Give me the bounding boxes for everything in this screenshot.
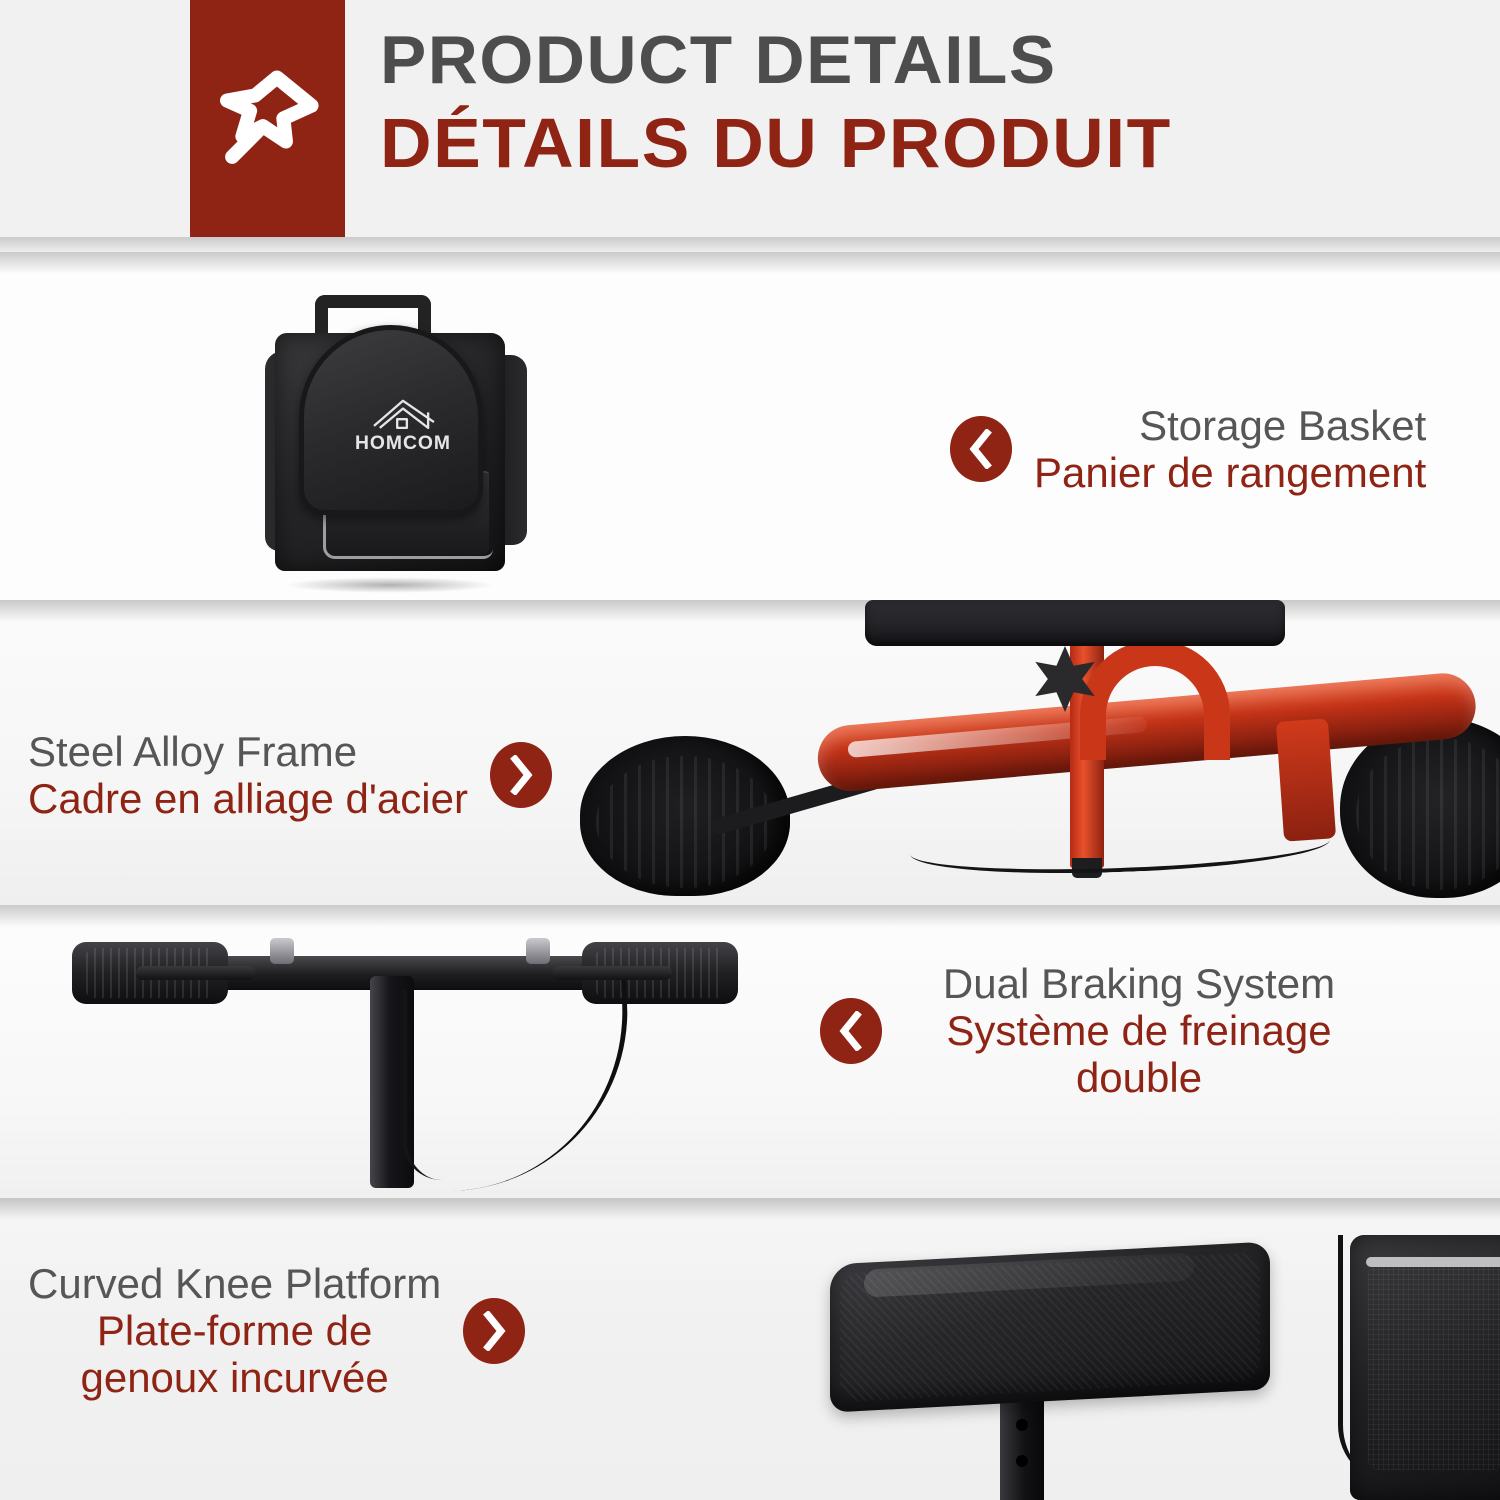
caption-text: Dual Braking System Système de freinage … xyxy=(904,960,1374,1101)
handlebar-brakes-image xyxy=(50,920,750,1198)
caption-text: Steel Alloy Frame Cadre en alliage d'aci… xyxy=(28,728,468,822)
page-title-en: PRODUCT DETAILS xyxy=(380,26,1400,94)
feature-label-en: Steel Alloy Frame xyxy=(28,728,357,775)
caption-text: Storage Basket Panier de rangement xyxy=(1034,402,1426,496)
caption-storage-basket: Storage Basket Panier de rangement xyxy=(950,402,1426,496)
feature-row-steel-alloy-frame: Steel Alloy Frame Cadre en alliage d'aci… xyxy=(0,600,1500,905)
chevron-right-icon[interactable] xyxy=(490,742,552,808)
caption-curved-knee-platform: Curved Knee Platform Plate-forme de geno… xyxy=(28,1260,525,1401)
pushpin-icon xyxy=(204,57,332,185)
knee-pad-edge xyxy=(865,600,1285,646)
curved-knee-platform-image xyxy=(790,1235,1500,1500)
mesh-basket xyxy=(1350,1235,1500,1500)
page-title-fr: DÉTAILS DU PRODUIT xyxy=(380,108,1400,178)
post-hole xyxy=(1016,1419,1028,1431)
feature-label-en: Dual Braking System xyxy=(943,960,1335,1007)
steel-frame-image xyxy=(580,600,1500,905)
feature-label-fr: Système de freinage double xyxy=(904,1007,1374,1101)
brake-lever-left xyxy=(136,966,256,980)
feature-label-fr: Panier de rangement xyxy=(1034,449,1426,496)
brake-cable xyxy=(909,815,1330,880)
basket-rim-trim xyxy=(1366,1257,1500,1267)
homcom-logo-text: HOMCOM xyxy=(355,433,451,454)
post-hole xyxy=(1016,1455,1028,1467)
caption-dual-braking-system: Dual Braking System Système de freinage … xyxy=(820,960,1374,1101)
bag-ground-shadow xyxy=(285,577,495,593)
caption-text: Curved Knee Platform Plate-forme de geno… xyxy=(28,1260,441,1401)
storage-basket-image: HOMCOM xyxy=(265,295,525,595)
caption-steel-alloy-frame: Steel Alloy Frame Cadre en alliage d'aci… xyxy=(28,728,552,822)
feature-label-en: Storage Basket xyxy=(1139,402,1426,449)
chevron-right-icon[interactable] xyxy=(463,1298,525,1364)
clamp-bolt-right xyxy=(526,938,550,964)
brake-cable-left xyxy=(402,990,442,1180)
chevron-left-icon[interactable] xyxy=(950,416,1012,482)
header-icon-badge xyxy=(190,0,345,237)
brake-lever-right xyxy=(552,966,672,980)
feature-row-storage-basket: HOMCOM Storage Basket Panier de rangemen… xyxy=(0,252,1500,600)
feature-row-dual-braking-system: Dual Braking System Système de freinage … xyxy=(0,905,1500,1198)
chevron-left-icon[interactable] xyxy=(820,998,882,1064)
feature-label-en: Curved Knee Platform xyxy=(28,1260,441,1307)
feature-label-fr: Cadre en alliage d'acier xyxy=(28,775,468,822)
feature-row-curved-knee-platform: Curved Knee Platform Plate-forme de geno… xyxy=(0,1198,1500,1500)
product-details-infographic: PRODUCT DETAILS DÉTAILS DU PRODUIT HOMCO… xyxy=(0,0,1500,1500)
header-banner: PRODUCT DETAILS DÉTAILS DU PRODUIT xyxy=(0,0,1500,252)
homcom-logo: HOMCOM xyxy=(345,393,461,455)
platform-post xyxy=(1000,1393,1044,1500)
clamp-bolt-left xyxy=(270,938,294,964)
header-divider-shadow xyxy=(0,237,1500,252)
header-titles: PRODUCT DETAILS DÉTAILS DU PRODUIT xyxy=(380,26,1380,178)
feature-label-fr: Plate-forme de genoux incurvée xyxy=(45,1307,425,1401)
